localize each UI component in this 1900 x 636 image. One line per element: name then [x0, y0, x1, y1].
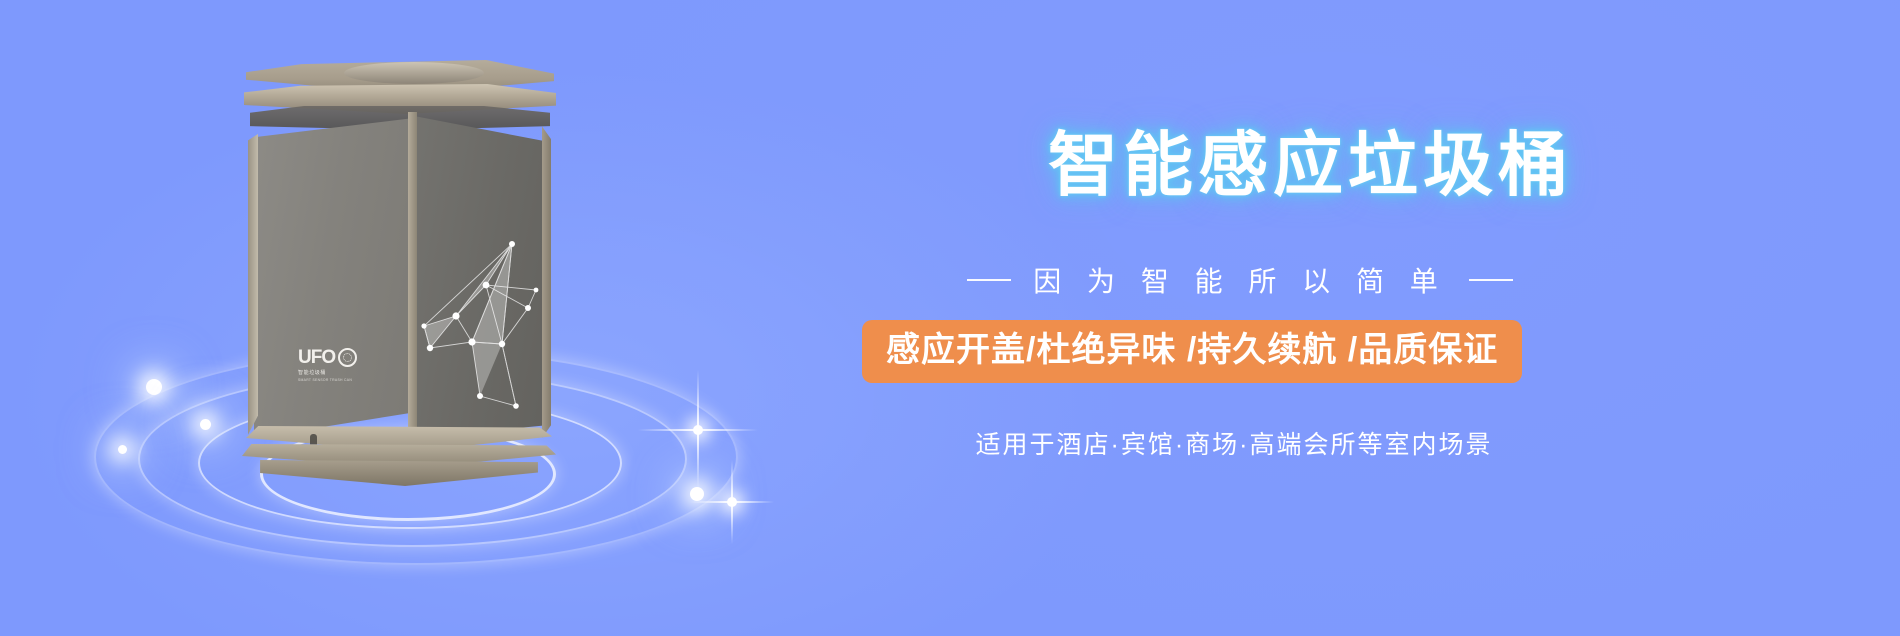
feature-pill: 感应开盖/杜绝异味 /持久续航 /品质保证: [862, 320, 1522, 383]
brand-chinese-subtitle: 智能垃圾桶: [298, 369, 378, 376]
glow-dot-icon: [690, 487, 704, 501]
glow-dot-icon: [146, 379, 162, 395]
headline: 智能感应垃圾桶: [1048, 130, 1573, 200]
trash-bin-illustration: UFO 智能垃圾桶 SMART SENSOR TRASH CAN: [240, 60, 560, 460]
glow-dot-icon: [118, 445, 127, 454]
subline-text: 因 为 智 能 所 以 简 单: [1033, 260, 1446, 300]
bin-network-graphic: [416, 230, 548, 420]
copy-block: 智能感应垃圾桶 因 为 智 能 所 以 简 单 感应开盖/杜绝异味 /持久续航 …: [880, 0, 1840, 636]
bin-lid-opening: [344, 62, 484, 84]
scenario-footnote: 适用于酒店·宾馆·商场·高端会所等室内场景: [884, 425, 1584, 461]
promo-banner: UFO 智能垃圾桶 SMART SENSOR TRASH CAN 智能感应垃圾桶…: [0, 0, 1900, 636]
bin-edge-left: [248, 118, 258, 438]
bin-edge-center: [408, 112, 417, 440]
glow-dot-icon: [200, 419, 211, 430]
product-stage: UFO 智能垃圾桶 SMART SENSOR TRASH CAN: [90, 40, 790, 596]
brand-english-subtitle: SMART SENSOR TRASH CAN: [298, 378, 378, 382]
subline: 因 为 智 能 所 以 简 单: [880, 260, 1600, 300]
bin-edge-right: [542, 120, 551, 438]
rule-left-icon: [967, 279, 1011, 281]
brand-logo: UFO 智能垃圾桶 SMART SENSOR TRASH CAN: [298, 348, 378, 382]
brand-circle-ring-icon: [338, 348, 357, 367]
rule-right-icon: [1469, 279, 1513, 281]
brand-logo-text: UFO: [298, 348, 335, 367]
bin-face-left: [254, 118, 414, 438]
polygon-network-icon: [416, 230, 548, 420]
